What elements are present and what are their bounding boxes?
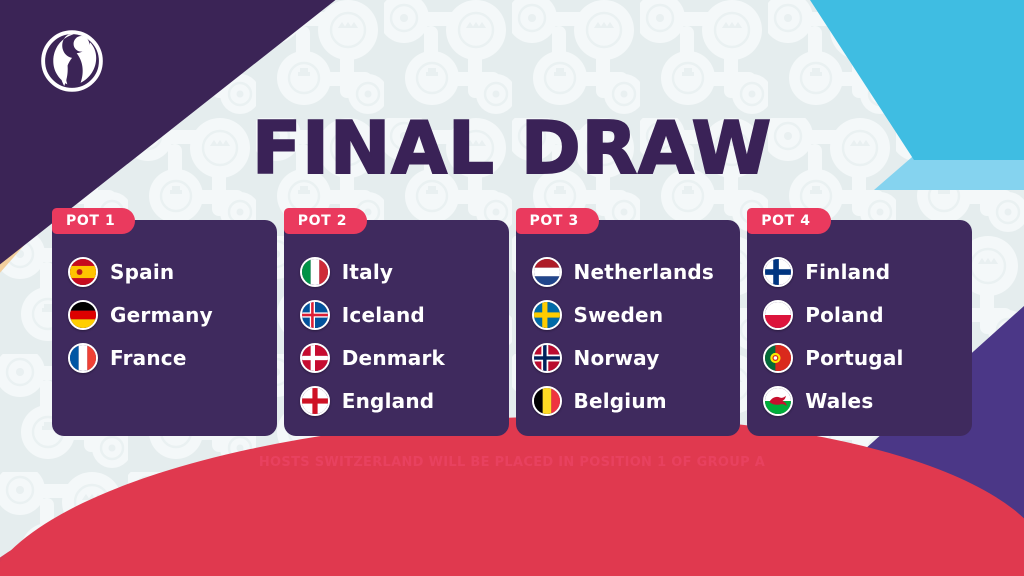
pots-container: POT 1 Spain Germany France <box>52 220 972 436</box>
team-name: Sweden <box>574 303 664 327</box>
team-name: Wales <box>805 389 873 413</box>
team-row[interactable]: Spain <box>52 250 277 293</box>
team-name: Poland <box>805 303 884 327</box>
team-row[interactable]: Belgium <box>516 379 741 422</box>
pot-card-2[interactable]: POT 2 Italy Iceland Denmark <box>284 220 509 436</box>
page-title: FINAL DRAW <box>0 112 1024 184</box>
team-row[interactable]: Finland <box>747 250 972 293</box>
flag-portugal-icon <box>763 343 793 373</box>
flag-france-icon <box>68 343 98 373</box>
team-name: Spain <box>110 260 174 284</box>
team-row[interactable]: Wales <box>747 379 972 422</box>
pot-card-3[interactable]: POT 3 Netherlands Sweden Norway <box>516 220 741 436</box>
flag-england-icon <box>300 386 330 416</box>
team-row[interactable]: England <box>284 379 509 422</box>
pot-label-3: POT 3 <box>516 208 599 234</box>
flag-wales-icon <box>763 386 793 416</box>
flag-iceland-icon <box>300 300 330 330</box>
team-row[interactable]: Iceland <box>284 293 509 336</box>
team-name: Italy <box>342 260 393 284</box>
team-name: Iceland <box>342 303 425 327</box>
team-row[interactable]: Denmark <box>284 336 509 379</box>
flag-belgium-icon <box>532 386 562 416</box>
team-row[interactable]: Norway <box>516 336 741 379</box>
team-name: Norway <box>574 346 660 370</box>
team-name: Belgium <box>574 389 667 413</box>
pot-label-1: POT 1 <box>52 208 135 234</box>
team-row[interactable]: France <box>52 336 277 379</box>
final-draw-graphic: FINAL DRAW POT 1 Spain Germany <box>0 0 1024 576</box>
flag-spain-icon <box>68 257 98 287</box>
flag-sweden-icon <box>532 300 562 330</box>
flag-italy-icon <box>300 257 330 287</box>
team-name: Finland <box>805 260 890 284</box>
flag-finland-icon <box>763 257 793 287</box>
flag-netherlands-icon <box>532 257 562 287</box>
team-name: Germany <box>110 303 213 327</box>
pot-card-4[interactable]: POT 4 Finland Poland Portugal <box>747 220 972 436</box>
pot-label-4: POT 4 <box>747 208 830 234</box>
pot-label-2: POT 2 <box>284 208 367 234</box>
uefa-womens-euro-logo-icon <box>33 22 111 100</box>
team-name: Portugal <box>805 346 903 370</box>
flag-germany-icon <box>68 300 98 330</box>
flag-poland-icon <box>763 300 793 330</box>
team-row[interactable]: Germany <box>52 293 277 336</box>
team-row[interactable]: Sweden <box>516 293 741 336</box>
flag-norway-icon <box>532 343 562 373</box>
team-row[interactable]: Netherlands <box>516 250 741 293</box>
team-name: Denmark <box>342 346 445 370</box>
team-row[interactable]: Portugal <box>747 336 972 379</box>
team-name: France <box>110 346 187 370</box>
pot-card-1[interactable]: POT 1 Spain Germany France <box>52 220 277 436</box>
team-name: England <box>342 389 435 413</box>
team-name: Netherlands <box>574 260 715 284</box>
team-row[interactable]: Italy <box>284 250 509 293</box>
team-row[interactable]: Poland <box>747 293 972 336</box>
flag-denmark-icon <box>300 343 330 373</box>
host-note: HOSTS SWITZERLAND WILL BE PLACED IN POSI… <box>0 455 1024 470</box>
